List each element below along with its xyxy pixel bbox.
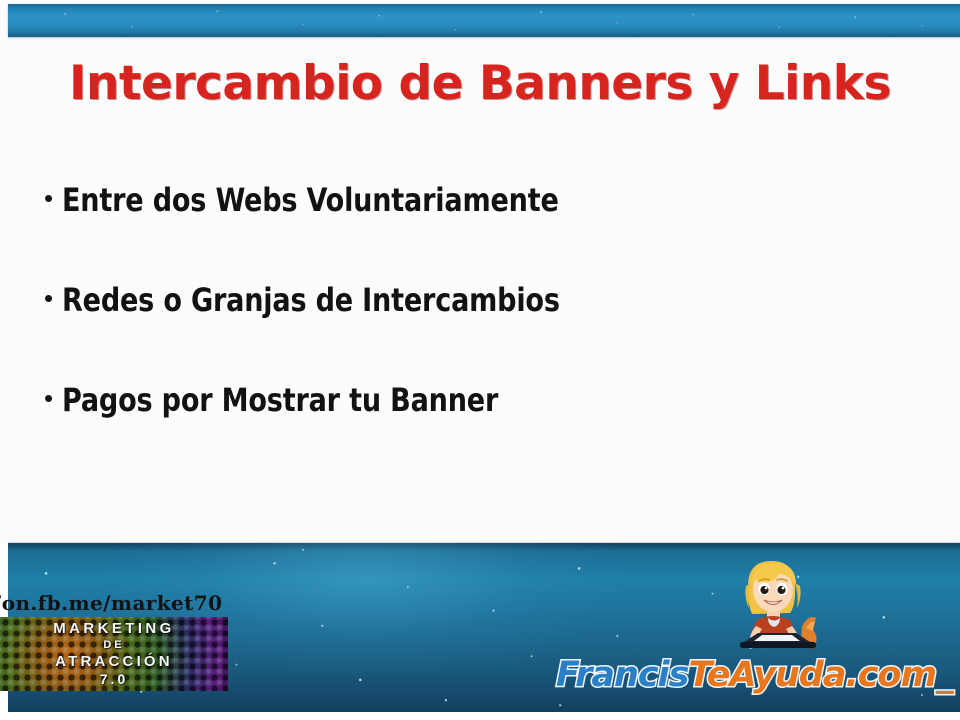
avatar <box>718 556 836 664</box>
badge-line-2: DE <box>103 638 124 653</box>
facebook-short-url[interactable]: /on.fb.me/market70 <box>0 591 222 615</box>
slide-canvas: Intercambio de Banners y Links • Entre d… <box>0 0 960 720</box>
list-item-label: Entre dos Webs Voluntariamente <box>62 181 559 219</box>
brand-logo[interactable]: FrancisTeAyuda.com_ <box>556 655 953 695</box>
badge-line-4: 7.0 <box>100 671 128 688</box>
bullet-dot-icon: • <box>44 185 62 211</box>
marketing-badge-text: MARKETING DE ATRACCIÓN 7.0 <box>0 617 228 691</box>
list-item-label: Redes o Granjas de Intercambios <box>62 281 560 319</box>
top-accent-band <box>8 4 960 37</box>
list-item: • Entre dos Webs Voluntariamente <box>44 181 804 281</box>
brand-part-francis: Francis <box>556 655 688 695</box>
page-title: Intercambio de Banners y Links <box>0 56 960 111</box>
list-item-label: Pagos por Mostrar tu Banner <box>62 381 498 419</box>
bullet-list: • Entre dos Webs Voluntariamente • Redes… <box>44 181 804 481</box>
brand-part-teayuda: TeAyuda.com_ <box>688 655 952 695</box>
bullet-dot-icon: • <box>44 285 62 311</box>
list-item: • Pagos por Mostrar tu Banner <box>44 381 804 481</box>
marketing-badge[interactable]: MARKETING DE ATRACCIÓN 7.0 <box>0 617 228 691</box>
bullet-dot-icon: • <box>44 385 62 411</box>
star-specks-icon <box>8 4 960 37</box>
badge-line-3: ATRACCIÓN <box>55 653 173 671</box>
list-item: • Redes o Granjas de Intercambios <box>44 281 804 381</box>
bottom-margin <box>0 712 960 720</box>
badge-line-1: MARKETING <box>53 620 174 638</box>
